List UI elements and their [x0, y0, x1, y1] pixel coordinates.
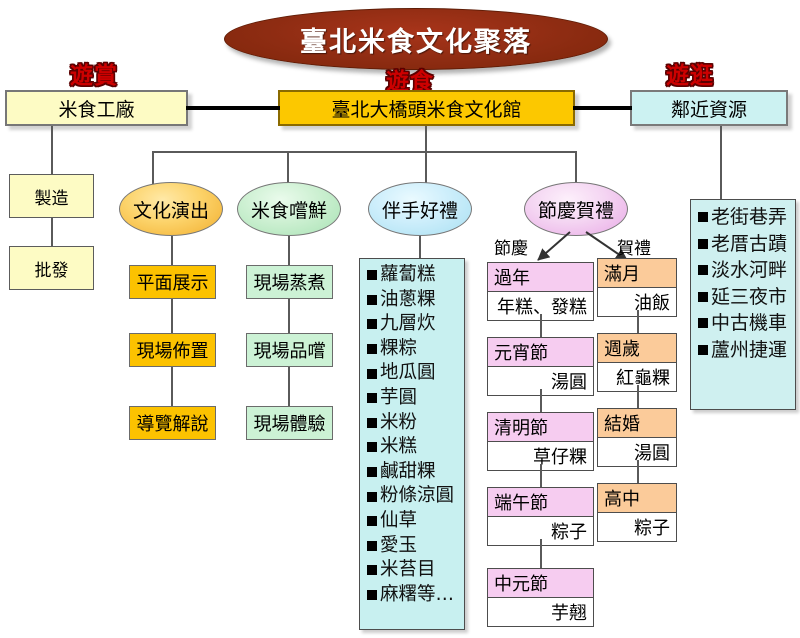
gift-list: 蘿蔔糕油蔥粿九層炊粿粽地瓜圓芋圓米粉米糕鹹甜粿粉條涼圓仙草愛玉米苔目麻糬等… [359, 258, 465, 630]
gift-list-item-label: 粿粽 [380, 337, 417, 362]
gift-list-item: 粉條涼圓 [367, 484, 458, 509]
rite-name: 滿月 [598, 259, 676, 288]
gift-list-item: 粿粽 [367, 337, 458, 362]
tasting-item-1-label: 現場蒸煮 [254, 269, 326, 295]
culture-item-3[interactable]: 導覽解說 [129, 406, 216, 440]
box-museum-label: 臺北大橋頭米食文化館 [331, 95, 521, 122]
box-museum[interactable]: 臺北大橋頭米食文化館 [278, 90, 575, 126]
nearby-list-item: 老厝古蹟 [698, 231, 789, 258]
rite-connector [637, 310, 639, 333]
square-bullet-icon [367, 295, 377, 305]
connector-tasting-2 [288, 299, 290, 333]
connector-nearby-list [720, 126, 722, 199]
gift-list-item: 米粉 [367, 411, 458, 436]
rite-name: 結婚 [598, 409, 676, 438]
gift-list-item: 米糕 [367, 435, 458, 460]
tasting-item-2-label: 現場品嚐 [254, 337, 326, 363]
connector-bus-to-tasting [287, 151, 289, 184]
connector-culture-2 [171, 299, 173, 333]
box-manufacture[interactable]: 製造 [9, 174, 94, 218]
connector-manufacture-to-wholesale [51, 218, 53, 246]
gift-list-item-label: 油蔥粿 [380, 288, 436, 313]
culture-item-2-label: 現場佈置 [137, 337, 209, 363]
culture-item-3-label: 導覽解說 [137, 410, 209, 436]
gift-list-item-label: 麻糬等… [380, 583, 454, 608]
branch-souvenir[interactable]: 伴手好禮 [368, 182, 472, 236]
diagram-title: 臺北米食文化聚落 [224, 8, 608, 70]
nearby-list: 老街巷弄老厝古蹟淡水河畔延三夜市中古機車蘆州捷運 [690, 199, 796, 410]
festival-card[interactable]: 清明節草仔粿 [487, 412, 594, 471]
square-bullet-icon [367, 344, 377, 354]
festival-card[interactable]: 過年年糕、發糕 [487, 262, 594, 321]
square-bullet-icon [367, 565, 377, 575]
gift-list-item-label: 地瓜圓 [380, 361, 436, 386]
connector-bus-to-culture [152, 151, 154, 184]
rite-card[interactable]: 滿月油飯 [597, 258, 677, 317]
nearby-list-item: 蘆州捷運 [698, 337, 789, 364]
header-right: 遊逛 [620, 56, 760, 90]
festival-connector [540, 539, 542, 568]
festival-name: 清明節 [488, 413, 593, 442]
nearby-list-item: 淡水河畔 [698, 257, 789, 284]
connector-museum-down [425, 126, 427, 152]
gift-list-item-label: 九層炊 [380, 312, 436, 337]
gift-list-item: 油蔥粿 [367, 288, 458, 313]
square-bullet-icon [698, 345, 708, 355]
square-bullet-icon [698, 318, 708, 328]
branch-rice-tasting-label: 米食嚐鮮 [251, 196, 327, 223]
square-bullet-icon [367, 541, 377, 551]
rite-connector [637, 385, 639, 408]
box-rice-factory-label: 米食工廠 [58, 95, 134, 122]
rite-connector [637, 460, 639, 483]
square-bullet-icon [367, 516, 377, 526]
square-bullet-icon [367, 442, 377, 452]
gift-list-item: 仙草 [367, 509, 458, 534]
festival-name: 中元節 [488, 569, 593, 598]
box-nearby-resources[interactable]: 鄰近資源 [630, 90, 788, 126]
square-bullet-icon [698, 239, 708, 249]
gift-list-item-label: 蘿蔔糕 [380, 263, 436, 288]
tasting-item-3[interactable]: 現場體驗 [246, 406, 333, 440]
gift-list-item-label: 米粉 [380, 411, 417, 436]
connector-tasting-3 [288, 367, 290, 406]
header-left: 遊賞 [24, 56, 164, 90]
square-bullet-icon [367, 270, 377, 280]
connector-bus [152, 151, 577, 153]
square-bullet-icon [367, 369, 377, 379]
gift-list-item-label: 仙草 [380, 509, 417, 534]
square-bullet-icon [367, 492, 377, 502]
branch-culture-show-label: 文化演出 [133, 196, 209, 223]
festival-connector [540, 314, 542, 337]
gift-list-item: 地瓜圓 [367, 361, 458, 386]
box-rice-factory[interactable]: 米食工廠 [5, 90, 188, 126]
square-bullet-icon [698, 292, 708, 302]
square-bullet-icon [698, 212, 708, 222]
gift-list-item-label: 米苔目 [380, 558, 436, 583]
rite-food: 粽子 [598, 513, 676, 541]
nearby-list-item-label: 老街巷弄 [711, 204, 787, 231]
gift-list-item: 鹹甜粿 [367, 460, 458, 485]
culture-item-2[interactable]: 現場佈置 [129, 333, 216, 367]
nearby-list-item: 中古機車 [698, 310, 789, 337]
festival-card[interactable]: 端午節粽子 [487, 487, 594, 546]
nearby-list-item: 老街巷弄 [698, 204, 789, 231]
branch-rice-tasting[interactable]: 米食嚐鮮 [237, 182, 341, 236]
box-wholesale-label: 批發 [35, 256, 69, 281]
box-wholesale[interactable]: 批發 [9, 246, 94, 290]
connector-factory-to-manufacture [51, 126, 53, 174]
branch-culture-show[interactable]: 文化演出 [119, 182, 223, 236]
gift-list-item-label: 米糕 [380, 435, 417, 460]
branch-souvenir-label: 伴手好禮 [382, 196, 458, 223]
gift-list-item: 九層炊 [367, 312, 458, 337]
gift-list-item: 芋圓 [367, 386, 458, 411]
branch-festival-gift-label: 節慶賀禮 [538, 196, 614, 223]
square-bullet-icon [698, 265, 708, 275]
nearby-list-item-label: 老厝古蹟 [711, 231, 787, 258]
gift-list-item-label: 芋圓 [380, 386, 417, 411]
gift-list-item: 愛玉 [367, 534, 458, 559]
trunk-right [573, 106, 632, 110]
square-bullet-icon [367, 467, 377, 477]
festival-group-label: 節慶 [494, 234, 528, 259]
connector-gift-list [419, 236, 421, 258]
tasting-item-3-label: 現場體驗 [254, 410, 326, 436]
connector-tasting-1 [288, 236, 290, 265]
rite-card[interactable]: 結婚湯圓 [597, 408, 677, 467]
gift-list-item-label: 愛玉 [380, 534, 417, 559]
festival-name: 元宵節 [488, 338, 593, 367]
connector-culture-3 [171, 367, 173, 406]
square-bullet-icon [367, 319, 377, 329]
diagram-title-text: 臺北米食文化聚落 [300, 20, 532, 59]
diagram-canvas: 臺北米食文化聚落 遊賞 遊逛 遊食 米食工廠 臺北大橋頭米食文化館 鄰近資源 製… [0, 0, 800, 638]
gift-list-item-label: 鹹甜粿 [380, 460, 436, 485]
festival-connector [540, 464, 542, 487]
festival-food: 芋翹 [488, 598, 593, 626]
festival-card[interactable]: 元宵節湯圓 [487, 337, 594, 396]
connector-culture-1 [171, 236, 173, 265]
tasting-item-2[interactable]: 現場品嚐 [246, 333, 333, 367]
square-bullet-icon [367, 393, 377, 403]
festival-name: 端午節 [488, 488, 593, 517]
gift-list-item: 蘿蔔糕 [367, 263, 458, 288]
trunk-left [186, 106, 280, 110]
rite-group-label: 賀禮 [617, 234, 651, 259]
rite-card[interactable]: 週歲紅龜粿 [597, 333, 677, 392]
festival-card[interactable]: 中元節芋翹 [487, 568, 594, 627]
culture-item-1-label: 平面展示 [137, 269, 209, 295]
rite-card[interactable]: 高中粽子 [597, 483, 677, 542]
nearby-list-item-label: 中古機車 [711, 310, 787, 337]
box-nearby-resources-label: 鄰近資源 [671, 95, 747, 122]
nearby-list-item-label: 淡水河畔 [711, 257, 787, 284]
square-bullet-icon [367, 418, 377, 428]
gift-list-item: 米苔目 [367, 558, 458, 583]
nearby-list-item: 延三夜市 [698, 284, 789, 311]
gift-list-item: 麻糬等… [367, 583, 458, 608]
connector-bus-to-gift [425, 151, 427, 184]
gift-list-item-label: 粉條涼圓 [380, 484, 454, 509]
connector-bus-to-festival [575, 151, 577, 184]
branch-festival-gift[interactable]: 節慶賀禮 [524, 182, 628, 236]
rite-name: 週歲 [598, 334, 676, 363]
tasting-item-1[interactable]: 現場蒸煮 [246, 265, 333, 299]
square-bullet-icon [367, 590, 377, 600]
culture-item-1[interactable]: 平面展示 [129, 265, 216, 299]
rite-name: 高中 [598, 484, 676, 513]
festival-name: 過年 [488, 263, 593, 292]
nearby-list-item-label: 蘆州捷運 [711, 337, 787, 364]
box-manufacture-label: 製造 [35, 184, 69, 209]
festival-connector [540, 389, 542, 412]
nearby-list-item-label: 延三夜市 [711, 284, 787, 311]
